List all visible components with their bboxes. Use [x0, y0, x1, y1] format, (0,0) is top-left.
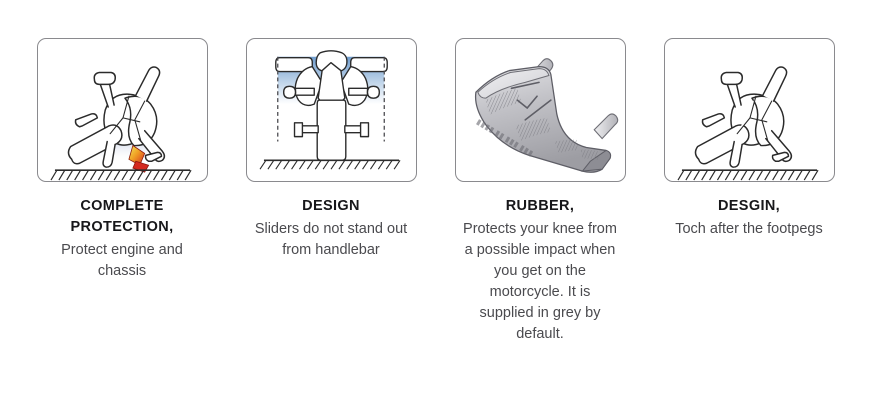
feature-column-design: DESIGN Sliders do not stand out from han…: [245, 38, 417, 261]
illustration-card-rubber: [455, 38, 626, 182]
feature-title-line: PROTECTION,: [71, 219, 174, 235]
ground-hatching: [678, 170, 818, 180]
motorcycle-fallen-side-view-plain-icon: [665, 39, 834, 181]
feature-body-line: Protect engine and: [61, 242, 183, 258]
caption-rubber: RUBBER, Protects your knee from a possib…: [452, 196, 628, 345]
feature-title: RUBBER,: [452, 196, 628, 217]
feature-body-line: Protects your knee from: [463, 221, 617, 237]
feature-title: DESGIN,: [661, 196, 837, 217]
caption-complete-protection: COMPLETE PROTECTION, Protect engine and …: [34, 196, 210, 282]
feature-body-line: supplied in grey by: [480, 305, 601, 321]
caption-desgin-footpegs: DESGIN, Toch after the footpegs: [661, 196, 837, 240]
feature-body-line: motorcycle. It is: [490, 284, 591, 300]
caption-design: DESIGN Sliders do not stand out from han…: [243, 196, 419, 261]
illustration-card-design: [246, 38, 417, 182]
feature-body-line: chassis: [98, 263, 146, 279]
feature-body-line: Sliders do not stand out: [255, 221, 407, 237]
feature-title: COMPLETE PROTECTION,: [34, 196, 210, 238]
ground-hatching: [260, 160, 400, 169]
feature-body-line: from handlebar: [282, 242, 380, 258]
feature-grid: COMPLETE PROTECTION, Protect engine and …: [0, 0, 869, 345]
grey-rubber-slider-part-icon: [456, 39, 625, 181]
feature-title: DESIGN: [243, 196, 419, 217]
ground-hatching: [51, 170, 191, 180]
feature-column-desgin-footpegs: DESGIN, Toch after the footpegs: [663, 38, 835, 240]
feature-body: Sliders do not stand out from handlebar: [243, 219, 419, 261]
feature-column-complete-protection: COMPLETE PROTECTION, Protect engine and …: [36, 38, 208, 282]
illustration-card-desgin-footpegs: [664, 38, 835, 182]
illustration-card-complete-protection: [37, 38, 208, 182]
motorcycle-front-view-with-width-guides-icon: [247, 39, 416, 181]
feature-body: Protects your knee from a possible impac…: [452, 219, 628, 345]
motorcycle-fallen-side-view-with-slider-icon: [38, 39, 207, 181]
mounting-peg-front: [594, 114, 617, 139]
feature-column-rubber: RUBBER, Protects your knee from a possib…: [454, 38, 626, 345]
feature-body-line: a possible impact when: [465, 242, 616, 258]
feature-body-line: you get on the: [494, 263, 586, 279]
feature-body: Toch after the footpegs: [661, 219, 837, 240]
feature-title-line: COMPLETE: [80, 198, 163, 214]
feature-body-line: default.: [516, 326, 564, 342]
feature-body: Protect engine and chassis: [34, 240, 210, 282]
